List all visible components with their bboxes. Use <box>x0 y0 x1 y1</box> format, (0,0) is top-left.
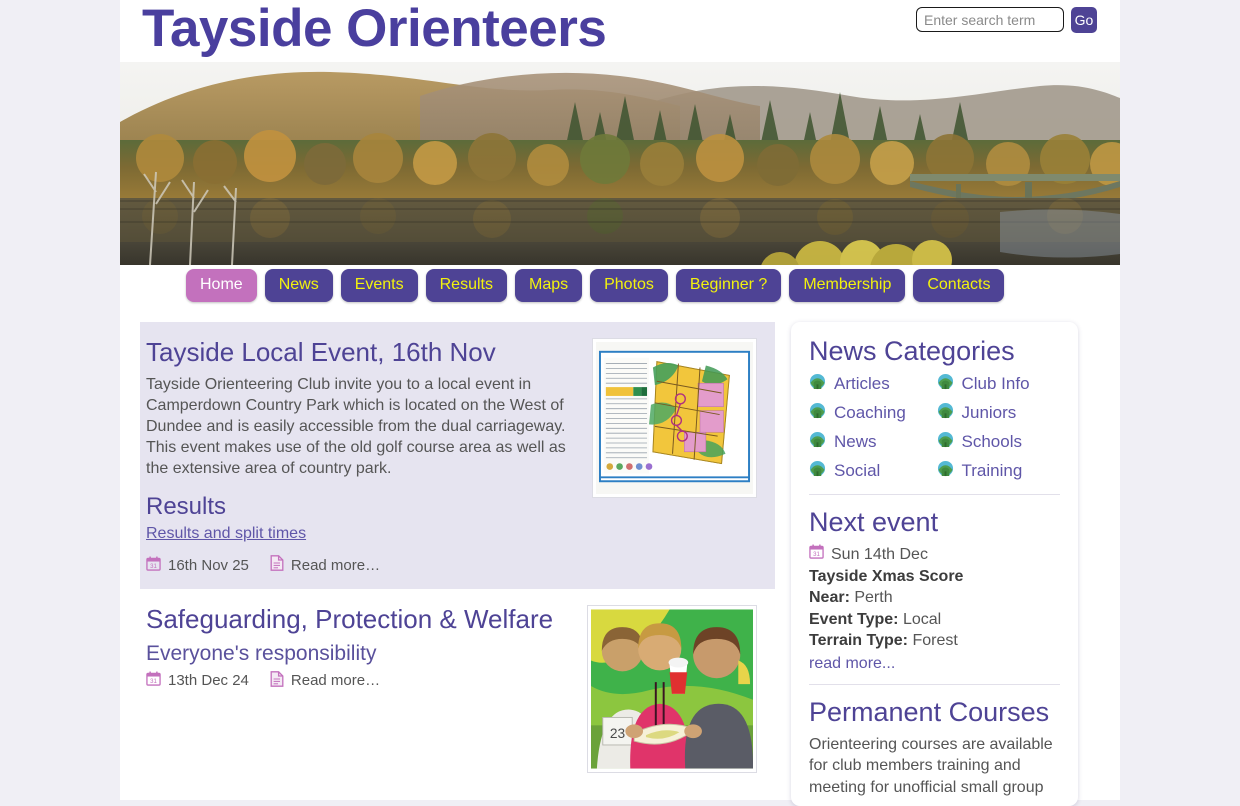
category-label: Coaching <box>834 403 906 423</box>
search-input[interactable] <box>916 7 1064 32</box>
article-title[interactable]: Tayside Local Event, 16th Nov <box>146 338 570 368</box>
sidebar-card: News Categories Articles Club Info <box>791 322 1078 806</box>
nav-item-news[interactable]: News <box>265 269 333 302</box>
next-event-near-row: Near: Perth <box>809 587 1060 609</box>
category-label: Schools <box>962 432 1022 452</box>
next-event-type-value: Local <box>903 611 941 628</box>
nav-item-beginner[interactable]: Beginner ? <box>676 269 781 302</box>
next-event-near-value: Perth <box>854 589 892 606</box>
sidebar-divider <box>809 494 1060 495</box>
nav-item-events[interactable]: Events <box>341 269 418 302</box>
permanent-courses-body: Orienteering courses are available for c… <box>809 734 1060 798</box>
document-icon <box>270 555 284 575</box>
nav-item-contacts[interactable]: Contacts <box>913 269 1004 302</box>
calendar-icon: 31 <box>146 556 161 575</box>
search-form: Go <box>916 7 1097 33</box>
next-event-terrain-label: Terrain Type: <box>809 632 908 649</box>
nav-item-home[interactable]: Home <box>186 269 257 302</box>
nav-item-photos[interactable]: Photos <box>590 269 668 302</box>
news-categories-heading: News Categories <box>809 336 1060 367</box>
page-container: Tayside Orienteers Go <box>120 0 1120 800</box>
article-section-heading: Results <box>146 493 570 521</box>
article-date: 13th Dec 24 <box>168 672 249 689</box>
site-header: Tayside Orienteers Go <box>120 0 1120 265</box>
next-event-terrain-row: Terrain Type: Forest <box>809 630 1060 652</box>
category-item-coaching[interactable]: Coaching <box>809 402 933 424</box>
article-body: Tayside Orienteering Club invite you to … <box>146 374 570 480</box>
category-badge-icon <box>809 431 826 453</box>
nav-item-membership[interactable]: Membership <box>789 269 905 302</box>
next-event-near-label: Near: <box>809 589 850 606</box>
category-label: News <box>834 432 877 452</box>
category-item-articles[interactable]: Articles <box>809 373 933 395</box>
article-card: Safeguarding, Protection & Welfare Every… <box>140 589 775 787</box>
nav-item-results[interactable]: Results <box>426 269 507 302</box>
category-badge-icon <box>937 460 954 482</box>
category-badge-icon <box>937 431 954 453</box>
next-event-date-row: 31 Sun 14th Dec <box>809 544 1060 566</box>
orienteering-map-illustration <box>596 342 753 494</box>
header-banner-image <box>120 62 1120 265</box>
read-more-link[interactable]: Read more… <box>291 672 380 689</box>
category-item-news[interactable]: News <box>809 431 933 453</box>
category-badge-icon <box>937 402 954 424</box>
page-title: Tayside Orienteers <box>142 0 606 59</box>
article-meta: 31 13th Dec 24 <box>146 671 565 691</box>
read-more-link[interactable]: Read more… <box>291 557 380 574</box>
results-split-times-link[interactable]: Results and split times <box>146 525 306 543</box>
search-go-button[interactable]: Go <box>1071 7 1097 33</box>
category-item-club-info[interactable]: Club Info <box>937 373 1061 395</box>
orienteers-with-map-photo[interactable]: 23 <box>587 605 757 773</box>
main-navigation: Home News Events Results Maps Photos Beg… <box>120 269 1120 302</box>
orienteering-map-thumbnail[interactable] <box>592 338 757 498</box>
category-item-training[interactable]: Training <box>937 460 1061 482</box>
category-item-social[interactable]: Social <box>809 460 933 482</box>
sidebar-divider <box>809 684 1060 685</box>
category-label: Training <box>962 461 1023 481</box>
next-event-read-more-link[interactable]: read more... <box>809 652 1060 676</box>
next-event-heading: Next event <box>809 507 1060 538</box>
content-area: Tayside Local Event, 16th Nov Tayside Or… <box>120 322 1120 806</box>
category-label: Articles <box>834 374 890 394</box>
svg-text:31: 31 <box>813 551 820 558</box>
category-item-juniors[interactable]: Juniors <box>937 402 1061 424</box>
svg-text:31: 31 <box>150 563 157 570</box>
category-badge-icon <box>809 373 826 395</box>
next-event-terrain-value: Forest <box>912 632 957 649</box>
next-event-type-label: Event Type: <box>809 611 899 628</box>
news-categories-list: Articles Club Info Coaching <box>809 373 1060 482</box>
category-item-schools[interactable]: Schools <box>937 431 1061 453</box>
main-column: Tayside Local Event, 16th Nov Tayside Or… <box>120 322 775 806</box>
category-badge-icon <box>809 402 826 424</box>
article-meta: 31 16th Nov 25 <box>146 555 570 575</box>
category-label: Juniors <box>962 403 1017 423</box>
svg-text:31: 31 <box>150 678 157 685</box>
permanent-courses-heading: Permanent Courses <box>809 697 1060 728</box>
category-badge-icon <box>809 460 826 482</box>
article-title[interactable]: Safeguarding, Protection & Welfare <box>146 605 565 635</box>
nav-item-maps[interactable]: Maps <box>515 269 582 302</box>
article-subtitle: Everyone's responsibility <box>146 641 565 666</box>
next-event-name: Tayside Xmas Score <box>809 566 1060 588</box>
category-label: Club Info <box>962 374 1030 394</box>
category-badge-icon <box>937 373 954 395</box>
next-event-type-row: Event Type: Local <box>809 609 1060 631</box>
article-card: Tayside Local Event, 16th Nov Tayside Or… <box>140 322 775 589</box>
next-event-date: Sun 14th Dec <box>831 544 928 566</box>
category-label: Social <box>834 461 880 481</box>
article-date: 16th Nov 25 <box>168 557 249 574</box>
svg-text:23: 23 <box>610 727 626 742</box>
orienteers-photo-illustration: 23 <box>591 609 753 769</box>
calendar-icon: 31 <box>809 544 824 566</box>
calendar-icon: 31 <box>146 671 161 690</box>
sidebar: News Categories Articles Club Info <box>775 322 1100 806</box>
document-icon <box>270 671 284 691</box>
autumn-lake-landscape-illustration <box>120 62 1120 265</box>
